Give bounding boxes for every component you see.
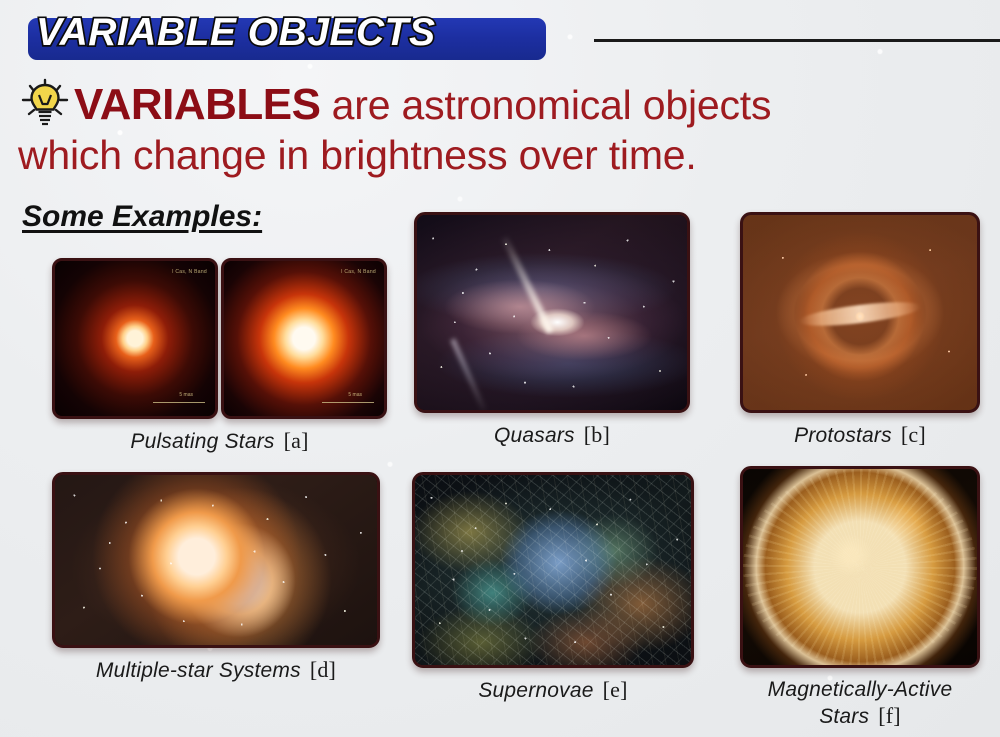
- header-divider-rule: [594, 39, 1000, 42]
- pulsating-stars-panel-pair: l Cas, N Band 5 mas l Cas, N Band 5 mas: [52, 258, 387, 419]
- figure-caption-tag: [d]: [310, 657, 336, 682]
- supernova-remnant-image: [412, 472, 694, 668]
- pulsating-star-panel-max: l Cas, N Band 5 mas: [221, 258, 387, 419]
- scale-bar-label: 5 mas: [348, 392, 362, 398]
- figure-caption: Supernovae[e]: [412, 677, 694, 704]
- figure-supernovae: Supernovae[e]: [412, 472, 694, 704]
- figure-caption-tag: [b]: [584, 422, 610, 447]
- figure-caption-label: Supernovae: [478, 679, 593, 702]
- panel-annotation: l Cas, N Band: [172, 269, 207, 275]
- figure-caption: Pulsating Stars[a]: [52, 428, 387, 455]
- figure-caption: Magnetically-Active Stars[f]: [740, 677, 980, 730]
- page-title: VARIABLE OBJECTS: [36, 12, 436, 54]
- figure-caption-tag: [c]: [901, 422, 926, 447]
- scale-bar: [153, 402, 205, 403]
- scale-bar-label: 5 mas: [179, 392, 193, 398]
- examples-heading: Some Examples:: [22, 200, 262, 234]
- lightbulb-icon: [18, 78, 72, 128]
- figure-pulsating-stars: l Cas, N Band 5 mas l Cas, N Band 5 mas …: [52, 258, 387, 455]
- panel-annotation: l Cas, N Band: [341, 269, 376, 275]
- figure-protostars: Protostars[c]: [740, 212, 980, 449]
- quasar-image: [414, 212, 690, 413]
- lead-text-rest: are astronomical objects: [320, 82, 771, 128]
- figure-caption-label: Quasars: [494, 424, 575, 447]
- lead-text-line2: which change in brightness over time.: [18, 132, 697, 178]
- figure-caption-label: Multiple-star Systems: [96, 659, 301, 682]
- protostar-image: [740, 212, 980, 413]
- figure-caption-tag: [a]: [284, 428, 309, 453]
- figure-caption: Protostars[c]: [740, 422, 980, 449]
- solar-corona-image: [740, 466, 980, 668]
- figure-caption-label: Pulsating Stars: [130, 430, 274, 453]
- figure-caption-label-line2: Stars: [819, 705, 869, 728]
- figure-multiple-star-systems: Multiple-star Systems[d]: [52, 472, 380, 684]
- scale-bar: [322, 402, 374, 403]
- figure-caption: Multiple-star Systems[d]: [52, 657, 380, 684]
- figure-caption-label-line1: Magnetically-Active: [768, 678, 953, 701]
- magnetic-loops-icon: [743, 469, 977, 665]
- figure-caption-tag: [e]: [603, 677, 628, 702]
- lead-keyword: VARIABLES: [74, 80, 320, 129]
- figure-caption-label: Protostars: [794, 424, 892, 447]
- figure-caption-tag: [f]: [878, 703, 901, 728]
- figure-caption: Quasars[b]: [414, 422, 690, 449]
- binary-star-image: [52, 472, 380, 648]
- figure-quasars: Quasars[b]: [414, 212, 690, 449]
- pulsating-star-panel-min: l Cas, N Band 5 mas: [52, 258, 218, 419]
- figure-magnetically-active-stars: Magnetically-Active Stars[f]: [740, 466, 980, 730]
- lead-paragraph: VARIABLES are astronomical objects which…: [18, 78, 978, 180]
